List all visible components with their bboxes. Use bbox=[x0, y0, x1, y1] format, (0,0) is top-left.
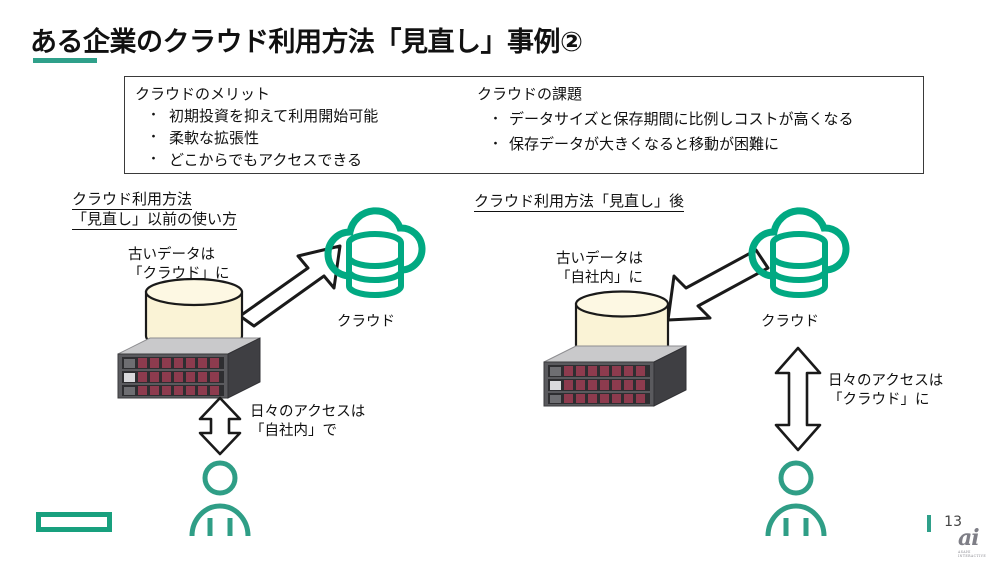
info-box-merit-column: クラウドのメリット ・初期投資を抑えて利用開始可能 ・柔軟な拡張性 ・どこからで… bbox=[135, 84, 480, 171]
before-heading-line2: 「見直し」以前の使い方 bbox=[72, 210, 237, 230]
after-section-heading: クラウド利用方法「見直し」後 bbox=[474, 192, 684, 212]
list-item: ・保存データが大きくなると移動が困難に bbox=[477, 132, 917, 157]
merit-list: ・初期投資を抑えて利用開始可能 ・柔軟な拡張性 ・どこからでもアクセスできる bbox=[135, 105, 480, 171]
slide-canvas: ある企業のクラウド利用方法「見直し」事例② クラウドのメリット ・初期投資を抑え… bbox=[0, 0, 1000, 561]
title-accent-bar bbox=[33, 58, 97, 63]
before-old-data-line1: 古いデータは bbox=[128, 247, 215, 263]
hpe-logo bbox=[36, 512, 112, 532]
before-heading-line1: クラウド利用方法 bbox=[72, 190, 192, 210]
cloud-storage-icon bbox=[744, 198, 854, 303]
issue-list: ・データサイズと保存期間に比例しコストが高くなる ・保存データが大きくなると移動… bbox=[477, 107, 917, 157]
list-item: ・初期投資を抑えて利用開始可能 bbox=[135, 105, 480, 127]
after-old-data-line1: 古いデータは bbox=[556, 251, 643, 267]
storage-server-icon bbox=[538, 338, 688, 416]
after-old-data-label: 古いデータは 「自社内」に bbox=[556, 250, 643, 288]
list-item-label: どこからでもアクセスできる bbox=[169, 151, 362, 169]
before-daily-line1: 日々のアクセスは bbox=[250, 404, 365, 420]
list-item: ・データサイズと保存期間に比例しコストが高くなる bbox=[477, 107, 917, 132]
asahi-interactive-logo: ai ASAHI INTERACTIVE bbox=[958, 528, 994, 556]
list-item-label: データサイズと保存期間に比例しコストが高くなる bbox=[509, 110, 854, 128]
issue-heading: クラウドの課題 bbox=[477, 84, 917, 104]
before-daily-line2: 「自社内」で bbox=[250, 423, 337, 439]
page-title: ある企業のクラウド利用方法「見直し」事例② bbox=[30, 20, 582, 59]
bullet-icon: ・ bbox=[147, 149, 160, 171]
info-box-issue-column: クラウドの課題 ・データサイズと保存期間に比例しコストが高くなる ・保存データが… bbox=[477, 84, 917, 157]
after-old-data-line2: 「自社内」に bbox=[556, 270, 643, 286]
cloud-storage-icon bbox=[320, 198, 430, 303]
bullet-icon: ・ bbox=[147, 127, 160, 149]
list-item: ・柔軟な拡張性 bbox=[135, 127, 480, 149]
ai-logo-subtext: ASAHI INTERACTIVE bbox=[958, 550, 994, 558]
before-section-heading: クラウド利用方法 「見直し」以前の使い方 bbox=[72, 190, 237, 230]
merit-heading: クラウドのメリット bbox=[135, 84, 480, 104]
double-arrow-vertical-icon bbox=[196, 395, 244, 457]
ai-logo-text: ai bbox=[958, 525, 979, 551]
bullet-icon: ・ bbox=[147, 105, 160, 127]
before-cloud-label: クラウド bbox=[337, 310, 395, 331]
after-daily-line1: 日々のアクセスは bbox=[828, 373, 943, 389]
bullet-icon: ・ bbox=[489, 107, 502, 132]
info-box: クラウドのメリット ・初期投資を抑えて利用開始可能 ・柔軟な拡張性 ・どこからで… bbox=[124, 76, 924, 174]
after-daily-access-label: 日々のアクセスは 「クラウド」に bbox=[828, 372, 943, 410]
person-icon bbox=[760, 458, 832, 536]
after-cloud-label: クラウド bbox=[761, 310, 819, 331]
page-number-bar bbox=[927, 515, 931, 532]
person-icon bbox=[184, 458, 256, 536]
before-daily-access-label: 日々のアクセスは 「自社内」で bbox=[250, 403, 365, 441]
list-item-label: 初期投資を抑えて利用開始可能 bbox=[169, 107, 378, 125]
list-item-label: 柔軟な拡張性 bbox=[169, 129, 259, 147]
list-item: ・どこからでもアクセスできる bbox=[135, 149, 480, 171]
after-daily-line2: 「クラウド」に bbox=[828, 392, 930, 408]
bullet-icon: ・ bbox=[489, 132, 502, 157]
after-heading-line1: クラウド利用方法「見直し」後 bbox=[474, 192, 684, 212]
list-item-label: 保存データが大きくなると移動が困難に bbox=[509, 135, 779, 153]
double-arrow-vertical-icon bbox=[772, 345, 824, 453]
